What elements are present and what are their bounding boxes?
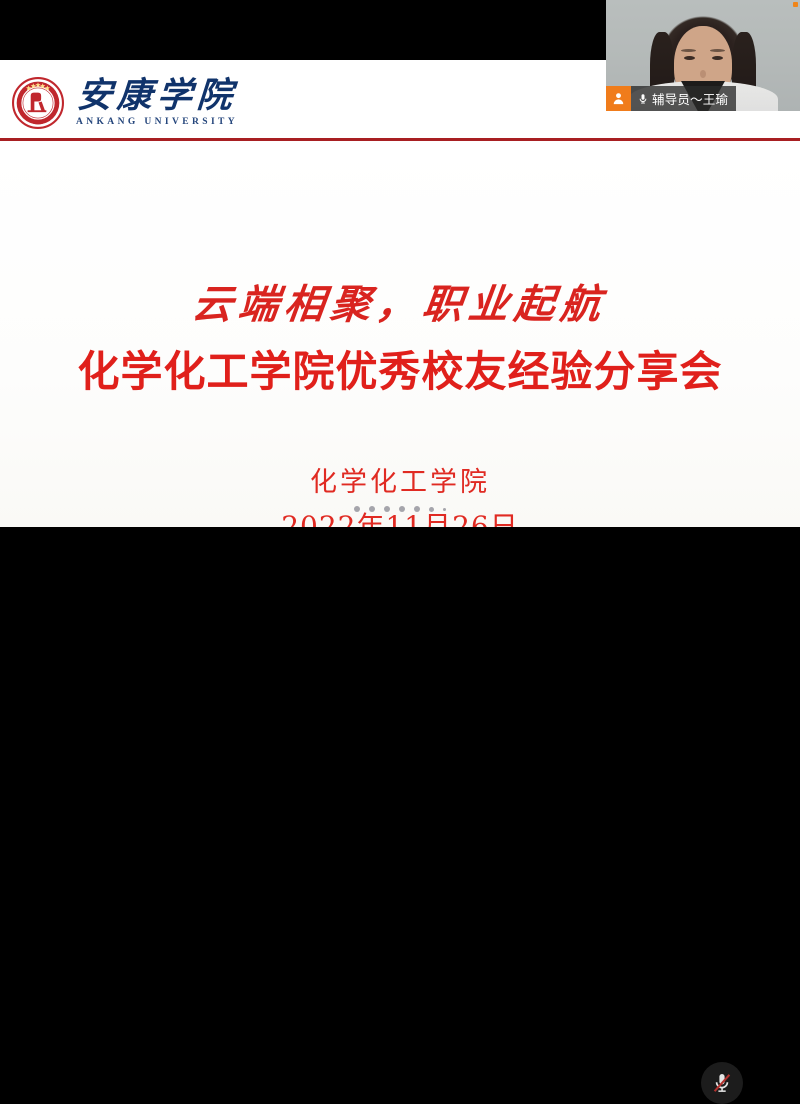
slide-progress-indicator — [0, 503, 800, 515]
university-name-cn: 安康学院 — [76, 78, 238, 113]
meeting-stage: 安康学院 ANKANG UNIVERSITY 云端相聚，职业起航 化学化工学院优… — [0, 0, 800, 600]
shared-screen-slide[interactable]: 安康学院 ANKANG UNIVERSITY 云端相聚，职业起航 化学化工学院优… — [0, 60, 800, 527]
mute-button[interactable] — [701, 1062, 743, 1104]
video-brow-left — [681, 49, 696, 52]
progress-dot — [414, 506, 420, 512]
slide-body: 云端相聚，职业起航 化学化工学院优秀校友经验分享会 化学化工学院 2022年11… — [0, 142, 800, 527]
progress-dot — [429, 507, 434, 512]
progress-dot — [443, 508, 446, 511]
progress-dot — [354, 506, 360, 512]
slide-title-primary: 云端相聚，职业起航 — [0, 272, 800, 330]
progress-dot — [384, 506, 390, 512]
video-brow-right — [710, 49, 725, 52]
video-eye-right — [712, 56, 723, 60]
slide-title-secondary: 化学化工学院优秀校友经验分享会 — [0, 338, 800, 399]
recording-dot-icon — [793, 2, 798, 7]
participant-video-tile[interactable]: 辅导员～王瑜 — [606, 0, 800, 111]
person-avatar-icon — [606, 86, 631, 111]
microphone-icon — [637, 93, 649, 105]
bottom-control-bar — [0, 527, 800, 600]
progress-dot — [399, 506, 405, 512]
video-nose — [700, 70, 706, 78]
person-avatar-glyph — [611, 91, 626, 106]
logo-text-block: 安康学院 ANKANG UNIVERSITY — [76, 78, 238, 128]
participant-name-label: 辅导员～王瑜 — [652, 89, 736, 108]
microphone-muted-icon — [710, 1071, 734, 1095]
university-logo: 安康学院 ANKANG UNIVERSITY — [12, 77, 238, 129]
university-name-en: ANKANG UNIVERSITY — [76, 118, 238, 128]
slide-subtitle-organization: 化学化工学院 — [0, 460, 800, 499]
university-seal-icon — [12, 77, 64, 129]
participant-nameplate: 辅导员～王瑜 — [606, 86, 736, 111]
video-eye-left — [684, 56, 695, 60]
header-divider — [0, 138, 800, 141]
progress-dot — [369, 506, 375, 512]
